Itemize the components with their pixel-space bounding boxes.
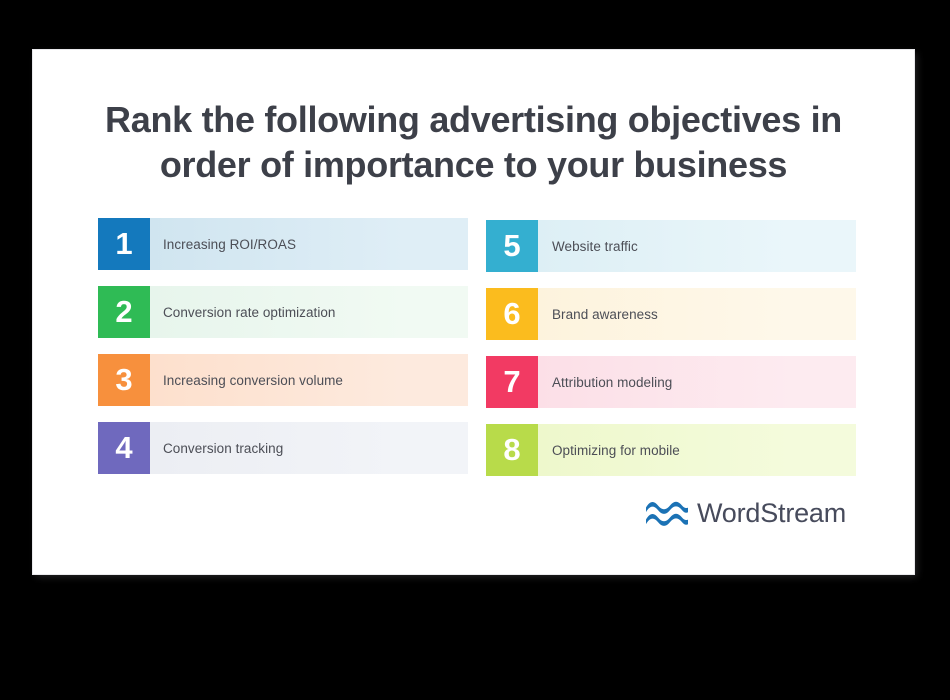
- rank-badge-5: 5: [486, 220, 538, 272]
- rank-item-4[interactable]: 4 Conversion tracking: [98, 422, 468, 474]
- rank-badge-7: 7: [486, 356, 538, 408]
- rank-badge-4: 4: [98, 422, 150, 474]
- ranking-column-right: 5 Website traffic 6 Brand awareness 7 At…: [486, 220, 856, 476]
- wordstream-wordmark: WordStream: [697, 500, 846, 527]
- wave-icon: [646, 500, 688, 526]
- ranking-column-left: 1 Increasing ROI/ROAS 2 Conversion rate …: [98, 218, 468, 474]
- rank-label-5: Website traffic: [538, 239, 638, 254]
- rank-item-8[interactable]: 8 Optimizing for mobile: [486, 424, 856, 476]
- rank-badge-8: 8: [486, 424, 538, 476]
- page-background: Rank the following advertising objective…: [0, 0, 950, 700]
- rank-band-5: Website traffic: [538, 220, 856, 272]
- rank-label-4: Conversion tracking: [150, 441, 283, 456]
- rank-item-2[interactable]: 2 Conversion rate optimization: [98, 286, 468, 338]
- rank-badge-3: 3: [98, 354, 150, 406]
- rank-band-1: Increasing ROI/ROAS: [150, 218, 468, 270]
- rank-item-3[interactable]: 3 Increasing conversion volume: [98, 354, 468, 406]
- rank-badge-1: 1: [98, 218, 150, 270]
- rank-label-7: Attribution modeling: [538, 375, 672, 390]
- rank-item-5[interactable]: 5 Website traffic: [486, 220, 856, 272]
- rank-band-8: Optimizing for mobile: [538, 424, 856, 476]
- rank-item-7[interactable]: 7 Attribution modeling: [486, 356, 856, 408]
- infographic-card: Rank the following advertising objective…: [33, 50, 914, 574]
- wordstream-logo: WordStream: [646, 496, 846, 530]
- rank-item-6[interactable]: 6 Brand awareness: [486, 288, 856, 340]
- rank-band-7: Attribution modeling: [538, 356, 856, 408]
- rank-band-2: Conversion rate optimization: [150, 286, 468, 338]
- rank-label-8: Optimizing for mobile: [538, 443, 680, 458]
- rank-label-3: Increasing conversion volume: [150, 373, 343, 388]
- rank-band-4: Conversion tracking: [150, 422, 468, 474]
- rank-band-6: Brand awareness: [538, 288, 856, 340]
- rank-label-2: Conversion rate optimization: [150, 305, 335, 320]
- rank-label-1: Increasing ROI/ROAS: [150, 237, 296, 252]
- rank-item-1[interactable]: 1 Increasing ROI/ROAS: [98, 218, 468, 270]
- rank-label-6: Brand awareness: [538, 307, 658, 322]
- page-title: Rank the following advertising objective…: [83, 97, 864, 187]
- rank-badge-2: 2: [98, 286, 150, 338]
- rank-badge-6: 6: [486, 288, 538, 340]
- rank-band-3: Increasing conversion volume: [150, 354, 468, 406]
